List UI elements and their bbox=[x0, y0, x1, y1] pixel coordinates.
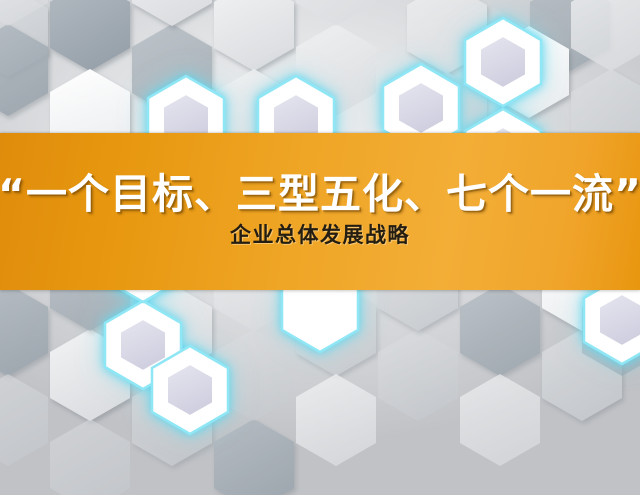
page-subtitle: 企业总体发展战略 bbox=[230, 224, 410, 247]
title-slide: “一个目标、三型五化、七个一流” 企业总体发展战略 bbox=[0, 0, 640, 495]
page-title: “一个目标、三型五化、七个一流” bbox=[0, 172, 640, 217]
title-banner: “一个目标、三型五化、七个一流” 企业总体发展战略 bbox=[0, 133, 640, 290]
